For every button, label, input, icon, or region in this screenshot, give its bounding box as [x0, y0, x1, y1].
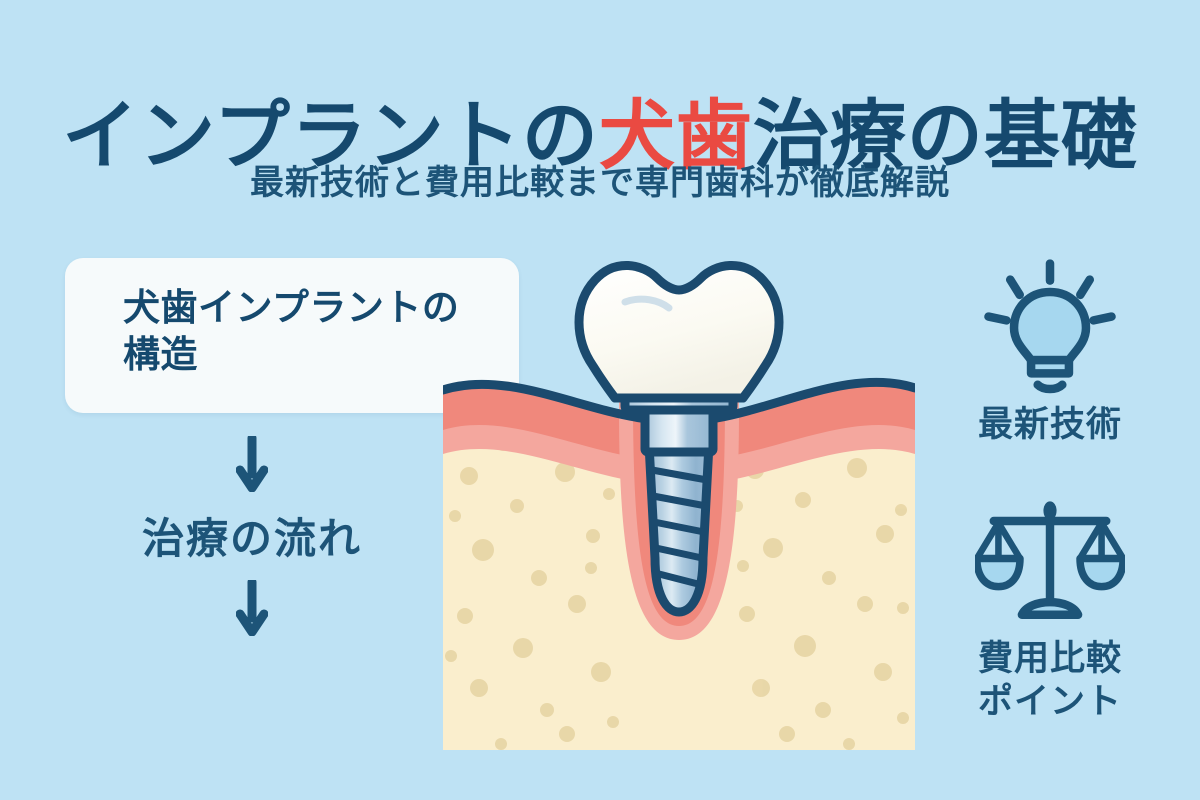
treatment-flow-label: 治療の流れ [0, 505, 504, 566]
arrow-down-icon [236, 580, 268, 636]
feature-latest-technology: 最新技術 [925, 252, 1175, 447]
balance-scale-icon [925, 496, 1175, 636]
arrow-down-icon [236, 436, 268, 492]
dental-implant-cross-section [443, 248, 915, 750]
lightbulb-icon [925, 252, 1175, 402]
infographic-canvas: インプラントの犬歯治療の基礎 最新技術と費用比較まで専門歯科が徹底解説 犬歯イン… [0, 0, 1200, 800]
structure-card-title: 犬歯インプラントの構造 [123, 284, 493, 379]
feature-cost-comparison: 費用比較 ポイント [925, 496, 1175, 723]
feature-label: 最新技術 [925, 404, 1175, 447]
feature-label: 費用比較 ポイント [925, 638, 1175, 723]
page-subtitle: 最新技術と費用比較まで専門歯科が徹底解説 [0, 155, 1200, 204]
